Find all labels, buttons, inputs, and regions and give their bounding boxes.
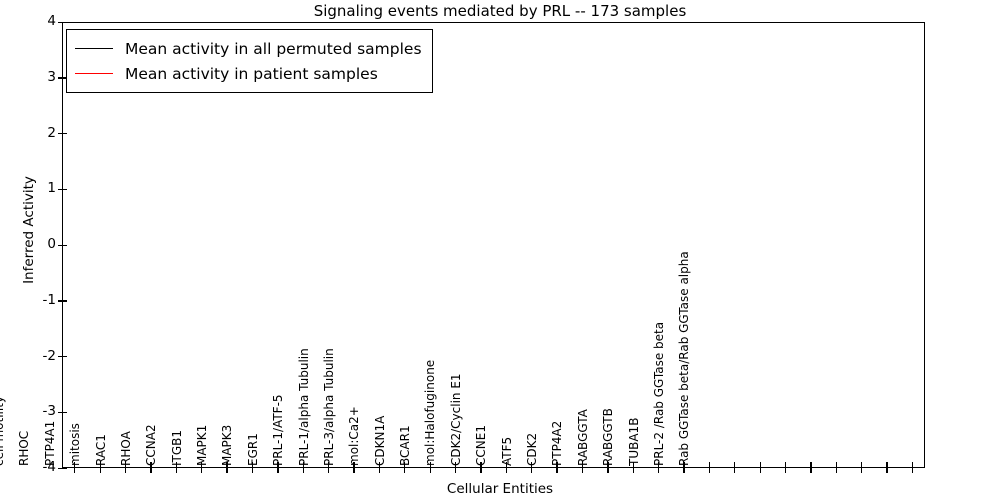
x-tick	[455, 468, 456, 473]
x-tick	[226, 468, 227, 473]
chart-title: Signaling events mediated by PRL -- 173 …	[0, 2, 1000, 20]
y-tick-inner	[62, 300, 67, 301]
chart-container: Signaling events mediated by PRL -- 173 …	[0, 0, 1000, 500]
x-tick	[556, 468, 557, 473]
x-tick	[531, 468, 532, 473]
x-tick	[683, 468, 684, 473]
x-tick	[734, 468, 735, 473]
x-tick	[886, 468, 887, 473]
x-tick	[430, 468, 431, 473]
legend-swatch-permuted	[75, 48, 113, 49]
legend-item-patient: Mean activity in patient samples	[75, 61, 422, 86]
x-axis-title: Cellular Entities	[0, 481, 1000, 497]
y-tick-label: 3	[4, 69, 56, 85]
y-tick-inner	[62, 189, 67, 190]
legend-label-permuted: Mean activity in all permuted samples	[125, 40, 422, 58]
y-tick-label: 4	[4, 13, 56, 29]
chart-legend: Mean activity in all permuted samples Me…	[66, 29, 433, 93]
x-tick	[836, 468, 837, 473]
x-tick	[328, 468, 329, 473]
legend-label-patient: Mean activity in patient samples	[125, 65, 378, 83]
x-tick	[100, 468, 101, 473]
x-tick	[150, 468, 151, 473]
legend-swatch-patient	[75, 73, 113, 74]
x-tick	[252, 468, 253, 473]
y-tick-inner	[62, 468, 67, 469]
y-tick-inner	[62, 245, 67, 246]
x-tick	[125, 468, 126, 473]
x-tick	[709, 468, 710, 473]
x-tick	[760, 468, 761, 473]
x-tick-label: Rab GGTase beta/Rab GGTase alpha	[451, 251, 917, 466]
x-tick	[633, 468, 634, 473]
x-tick	[404, 468, 405, 473]
legend-item-permuted: Mean activity in all permuted samples	[75, 36, 422, 61]
y-tick-inner	[62, 22, 67, 23]
x-tick	[658, 468, 659, 473]
x-tick	[810, 468, 811, 473]
x-tick	[201, 468, 202, 473]
y-axis-title: Inferred Activity	[21, 105, 37, 355]
x-tick	[176, 468, 177, 473]
x-tick	[353, 468, 354, 473]
x-tick	[912, 468, 913, 473]
y-tick-inner	[62, 133, 67, 134]
x-tick	[506, 468, 507, 473]
x-tick	[277, 468, 278, 473]
x-tick	[74, 468, 75, 473]
x-tick	[303, 468, 304, 473]
x-tick	[379, 468, 380, 473]
x-tick	[582, 468, 583, 473]
x-tick	[480, 468, 481, 473]
x-tick	[785, 468, 786, 473]
x-tick	[861, 468, 862, 473]
x-tick	[607, 468, 608, 473]
